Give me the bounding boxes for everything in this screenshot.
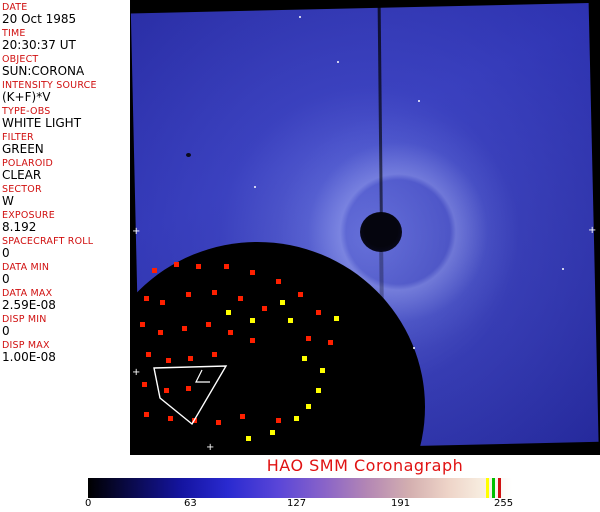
metadata-row: EXPOSURE 8.192 <box>2 210 130 234</box>
metadata-row: POLAROID CLEAR <box>2 158 130 182</box>
metadata-row: FILTER GREEN <box>2 132 130 156</box>
metadata-value-sector: W <box>2 195 130 208</box>
metadata-value-data-max: 2.59E-08 <box>2 299 130 312</box>
colorbar-marker-red <box>498 478 501 498</box>
metadata-row: SPACECRAFT ROLL 0 <box>2 236 130 260</box>
colorbar-marker-yellow <box>486 478 489 498</box>
metadata-row: DATA MAX 2.59E-08 <box>2 288 130 312</box>
colorbar[interactable] <box>88 478 512 498</box>
metadata-row: DATA MIN 0 <box>2 262 130 286</box>
metadata-row: SECTOR W <box>2 184 130 208</box>
metadata-row: TYPE-OBS WHITE LIGHT <box>2 106 130 130</box>
metadata-key-sector: SECTOR <box>2 184 130 195</box>
colorbar-marker-green <box>492 478 495 498</box>
metadata-key-spacecraft-roll: SPACECRAFT ROLL <box>2 236 130 247</box>
metadata-value-intensity-source: (K+F)*V <box>2 91 130 104</box>
metadata-key-data-min: DATA MIN <box>2 262 130 273</box>
metadata-row: OBJECT SUN:CORONA <box>2 54 130 78</box>
metadata-value-object: SUN:CORONA <box>2 65 130 78</box>
colorbar-tick-63: 63 <box>184 498 197 510</box>
colorbar-labels: 0 63 127 191 255 <box>88 498 512 510</box>
metadata-row: DISP MIN 0 <box>2 314 130 338</box>
colorbar-tick-255: 255 <box>494 498 513 510</box>
overlay-markers <box>130 0 600 455</box>
colorbar-tick-127: 127 <box>287 498 306 510</box>
metadata-key-disp-min: DISP MIN <box>2 314 130 325</box>
annotation-arrow <box>196 370 210 382</box>
metadata-value-spacecraft-roll: 0 <box>2 247 130 260</box>
page-title: HAO SMM Coronagraph <box>130 455 600 477</box>
metadata-value-type-obs: WHITE LIGHT <box>2 117 130 130</box>
colorbar-gradient <box>88 478 512 498</box>
metadata-row: DATE 20 Oct 1985 <box>2 2 130 26</box>
metadata-row: INTENSITY SOURCE (K+F)*V <box>2 80 130 104</box>
metadata-value-disp-max: 1.00E-08 <box>2 351 130 364</box>
colorbar-tick-191: 191 <box>391 498 410 510</box>
metadata-value-filter: GREEN <box>2 143 130 156</box>
metadata-panel: DATE 20 Oct 1985 TIME 20:30:37 UT OBJECT… <box>0 0 130 455</box>
metadata-value-disp-min: 0 <box>2 325 130 338</box>
coronagraph-viewer: DATE 20 Oct 1985 TIME 20:30:37 UT OBJECT… <box>0 0 600 512</box>
metadata-row: DISP MAX 1.00E-08 <box>2 340 130 364</box>
metadata-row: TIME 20:30:37 UT <box>2 28 130 52</box>
metadata-value-data-min: 0 <box>2 273 130 286</box>
annotation-polygon <box>154 366 226 424</box>
metadata-value-exposure: 8.192 <box>2 221 130 234</box>
coronagraph-image: + + + + <box>130 0 600 455</box>
metadata-value-polaroid: CLEAR <box>2 169 130 182</box>
metadata-value-time: 20:30:37 UT <box>2 39 130 52</box>
metadata-value-date: 20 Oct 1985 <box>2 13 130 26</box>
colorbar-tick-0: 0 <box>85 498 91 510</box>
